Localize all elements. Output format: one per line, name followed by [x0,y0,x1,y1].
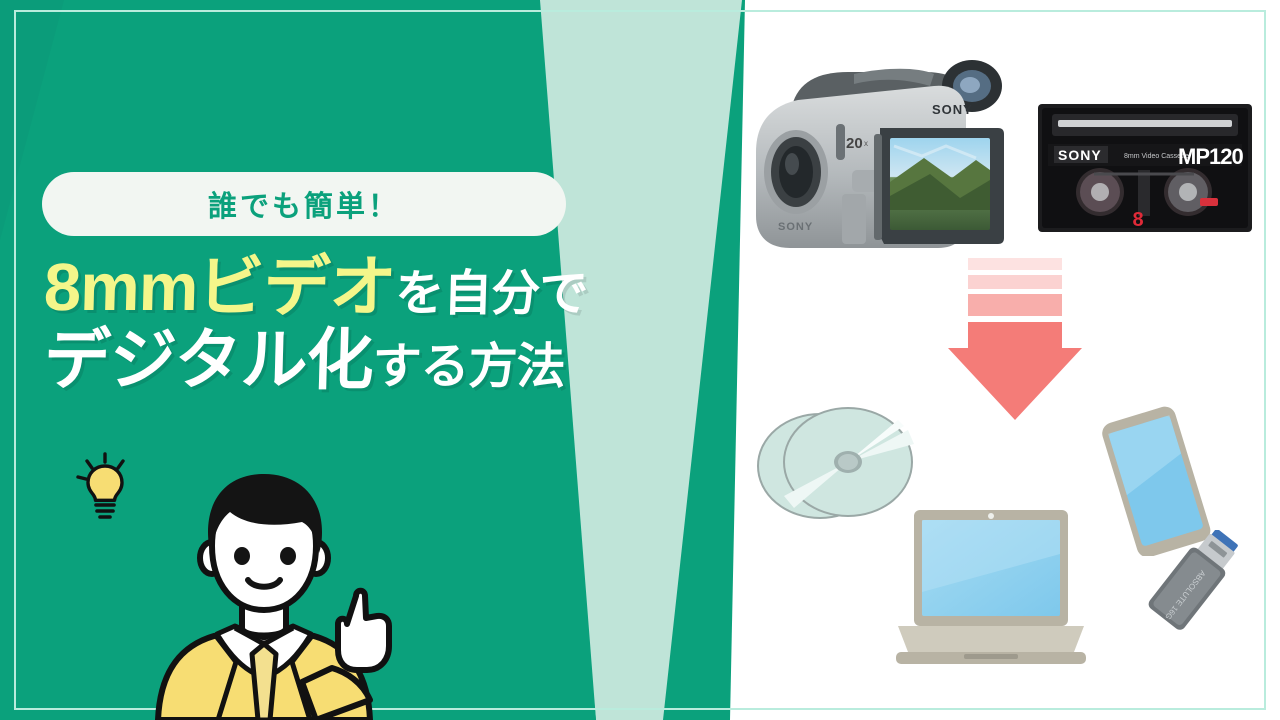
sony-8mm-video-cassette-photo: SONY 8mm Video Cassette MP120 8 [1038,104,1252,232]
thumbnail-banner: 誰でも簡単！ 8mmビデオを自分で デジタル化する方法 [0,0,1280,720]
badge-pill: 誰でも簡単！ [42,172,566,236]
sony-camcorder-photo: 20 x SONY SONY [734,42,1024,274]
headline-rest-1: を自分で [395,267,588,321]
svg-text:8: 8 [1132,209,1143,231]
svg-text:SONY: SONY [778,221,813,233]
headline-highlight-2: デジタル化 [43,323,374,398]
pointing-businessman-illustration [120,470,410,720]
svg-text:20: 20 [846,135,863,152]
headline-rest-2: する方法 [372,340,565,394]
svg-text:MP120: MP120 [1178,144,1243,169]
badge-label: 誰でも簡単！ [208,183,400,225]
svg-text:SONY: SONY [1058,147,1102,163]
svg-text:x: x [864,139,868,148]
down-arrow-icon [948,258,1082,430]
svg-text:SONY: SONY [932,102,973,117]
headline-line-1: 8mmビデオを自分で [43,252,745,323]
laptop-illustration [896,506,1086,674]
headline-line-2: デジタル化する方法 [43,325,745,396]
headline-highlight-1: 8mmビデオ [43,250,396,325]
usb-drive-illustration: ABSOLUTE 16G [1148,530,1258,642]
page-title: 8mmビデオを自分で デジタル化する方法 [44,252,744,396]
